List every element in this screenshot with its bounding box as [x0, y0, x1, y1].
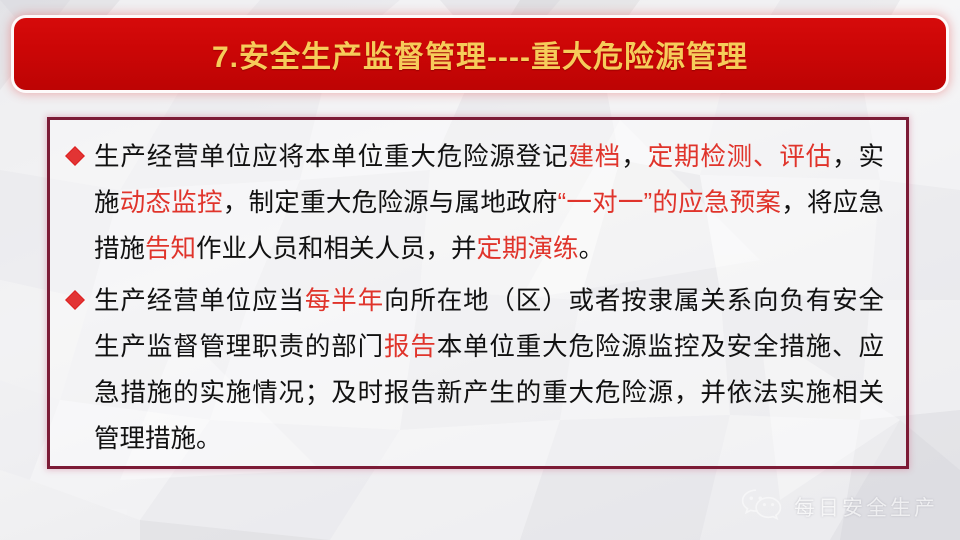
highlighted-text: 定期检测、评估 — [648, 143, 833, 171]
bullet-text-2: 生产经营单位应当每半年向所在地（区）或者按隶属关系向负有安全生产监督管理职责的部… — [94, 278, 884, 462]
highlighted-text: “一对一”的应急预案 — [558, 189, 782, 217]
body-text: 生产经营单位应当 — [94, 287, 305, 315]
highlighted-text: 建档 — [568, 143, 621, 171]
diamond-bullet-icon — [64, 278, 94, 311]
body-text: ，制定重大危险源与属地政府 — [223, 189, 558, 217]
highlighted-text: 每半年 — [305, 287, 384, 315]
page-title: 7.安全生产监督管理----重大危险源管理 — [212, 32, 748, 76]
bullet-item: 生产经营单位应将本单位重大危险源登记建档，定期检测、评估，实施动态监控，制定重大… — [64, 134, 884, 272]
content-frame: 生产经营单位应将本单位重大危险源登记建档，定期检测、评估，实施动态监控，制定重大… — [47, 117, 909, 469]
highlighted-text: 动态监控 — [120, 189, 223, 217]
title-banner: 7.安全生产监督管理----重大危险源管理 — [14, 18, 946, 90]
highlighted-text: 报告 — [384, 333, 437, 361]
body-text: 作业人员和相关人员，并 — [196, 235, 477, 263]
highlighted-text: 定期演练 — [477, 235, 579, 263]
body-text: 生产经营单位应将本单位重大危险源登记 — [94, 143, 568, 171]
bullet-text-1: 生产经营单位应将本单位重大危险源登记建档，定期检测、评估，实施动态监控，制定重大… — [94, 134, 884, 272]
watermark: 每日安全生产 — [740, 487, 938, 526]
bullet-item: 生产经营单位应当每半年向所在地（区）或者按隶属关系向负有安全生产监督管理职责的部… — [64, 278, 884, 462]
watermark-label: 每日安全生产 — [794, 492, 938, 522]
highlighted-text: 告知 — [145, 235, 196, 263]
body-text: ， — [621, 143, 647, 171]
diamond-bullet-icon — [64, 134, 94, 167]
content-body: 生产经营单位应将本单位重大危险源登记建档，定期检测、评估，实施动态监控，制定重大… — [50, 120, 906, 466]
wechat-icon — [740, 487, 784, 526]
slide-root: 7.安全生产监督管理----重大危险源管理 生产经营单位应将本单位重大危险源登记… — [0, 0, 960, 540]
body-text: 。 — [579, 235, 605, 263]
